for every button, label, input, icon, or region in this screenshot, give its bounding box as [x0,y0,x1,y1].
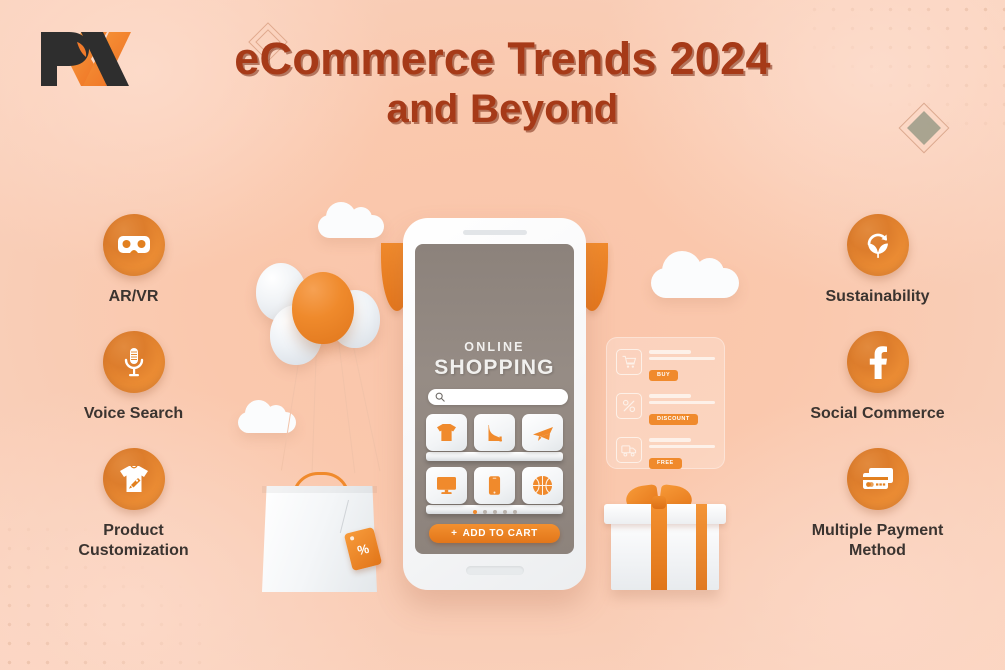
percent-outline-icon [616,393,642,419]
pager-dot[interactable] [483,510,487,514]
product-shelf-row-2 [426,467,563,514]
add-to-cart-button[interactable]: + ADD TO CART [429,524,560,543]
price-tag-label: % [356,540,371,557]
search-input[interactable] [428,389,568,405]
promo-text-lines: BUY [649,349,715,381]
promo-text-lines: FREE [649,437,715,469]
shelf-board [426,452,563,461]
product-tile-airplane[interactable] [522,414,563,451]
tshirt-icon [436,423,457,442]
pager-dot[interactable] [513,510,517,514]
product-tile-smartphone[interactable] [474,467,515,504]
promo-text-lines: DISCOUNT [649,393,715,425]
center-illustration: % ONLINE SHOPPING [0,0,1005,670]
balloon-string [352,342,381,471]
bag-fold [262,486,377,493]
balloon-string [312,345,318,473]
monitor-icon [436,476,457,495]
screen-heading-large: SHOPPING [415,356,574,380]
gift-box [604,486,726,590]
promo-line [649,445,715,449]
basketball-icon [532,475,553,496]
phone-screen: ONLINE SHOPPING [415,244,574,554]
pager-dot[interactable] [493,510,497,514]
search-icon [435,392,445,402]
product-tile-monitor[interactable] [426,467,467,504]
gift-ribbon-vertical [651,504,667,590]
promo-badge[interactable]: FREE [649,458,682,469]
carousel-pager[interactable] [473,510,517,514]
cart-outline-icon [616,349,642,375]
promo-row[interactable]: DISCOUNT [616,393,715,425]
screen-heading-small: ONLINE [415,340,574,354]
truck-outline-icon [616,437,642,463]
plus-icon: + [451,528,457,539]
product-tile-basketball[interactable] [522,467,563,504]
phone-speaker [463,230,527,235]
pager-dot[interactable] [473,510,477,514]
cloud-decoration [651,268,739,298]
promo-line [649,394,691,398]
price-tag-hole [350,536,355,541]
promo-panel: BUY DISCOUNT [606,337,725,469]
promo-line [649,350,691,354]
promo-line [649,438,691,442]
smartphone-icon [488,475,501,496]
promo-line [649,401,715,405]
product-tiles [426,414,563,451]
cloud-decoration [318,215,384,238]
gift-ribbon-vertical-secondary [696,504,707,590]
airplane-icon [532,423,554,443]
promo-row[interactable]: BUY [616,349,715,381]
phone-home-indicator [466,566,524,575]
add-to-cart-label: ADD TO CART [463,528,538,539]
high-heel-icon [485,423,505,443]
promo-row[interactable]: FREE [616,437,715,469]
promo-badge[interactable]: BUY [649,370,678,381]
gift-bow-knot [652,496,666,509]
product-tiles [426,467,563,504]
balloon-string [338,340,356,473]
smartphone-mockup: ONLINE SHOPPING [403,218,586,590]
promo-line [649,357,715,361]
product-tile-high-heel[interactable] [474,414,515,451]
promo-badge[interactable]: DISCOUNT [649,414,698,425]
product-shelf-row-1 [426,414,563,461]
infographic-canvas: eCommerce Trends 2024 and Beyond AR/VR [0,0,1005,670]
balloon-orange [292,272,354,344]
screen-heading: ONLINE SHOPPING [415,340,574,380]
product-tile-tshirt[interactable] [426,414,467,451]
pager-dot[interactable] [503,510,507,514]
shopping-bag: % [262,468,377,592]
